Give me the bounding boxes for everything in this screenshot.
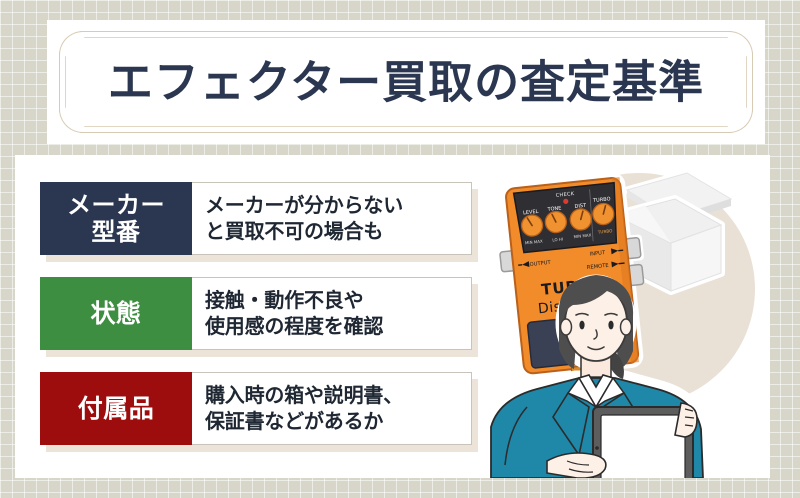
- criteria-description: 購入時の箱や説明書、 保証書などがあるか: [192, 373, 471, 444]
- illustration-group: CHECK LEVEL TONE DIST TURBO: [475, 155, 770, 478]
- badge-line: 付属品: [78, 395, 155, 423]
- criteria-row: 状態 接触・動作不良や 使用感の程度を確認: [40, 277, 472, 350]
- person-illustration: [475, 155, 770, 478]
- title-card: エフェクター買取の査定基準: [47, 20, 765, 144]
- criteria-row: メーカー 型番 メーカーが分からない と買取不可の場合も: [40, 182, 472, 255]
- description-line: と買取不可の場合も: [205, 219, 471, 245]
- criteria-list: メーカー 型番 メーカーが分からない と買取不可の場合も 状態: [40, 182, 472, 467]
- page-title: エフェクター買取の査定基準: [47, 60, 765, 105]
- criteria-badge: メーカー 型番: [40, 182, 192, 255]
- main-panel: メーカー 型番 メーカーが分からない と買取不可の場合も 状態: [15, 155, 770, 478]
- criteria-row-accessories: 付属品 購入時の箱や説明書、 保証書などがあるか: [40, 372, 472, 445]
- criteria-badge: 付属品: [40, 372, 192, 445]
- infographic-canvas: エフェクター買取の査定基準 メーカー 型番 メーカーが分からない と買: [0, 0, 800, 498]
- description-line: 購入時の箱や説明書、: [205, 383, 471, 409]
- description-line: 保証書などがあるか: [205, 409, 471, 435]
- badge-line: メーカー: [67, 192, 165, 219]
- description-line: 使用感の程度を確認: [205, 314, 471, 340]
- description-line: メーカーが分からない: [205, 193, 471, 219]
- description-line: 接触・動作不良や: [205, 288, 471, 314]
- badge-line: 状態: [90, 300, 141, 328]
- criteria-badge: 状態: [40, 277, 192, 350]
- criteria-row: 付属品 購入時の箱や説明書、 保証書などがあるか: [40, 372, 472, 445]
- criteria-row-maker-model: メーカー 型番 メーカーが分からない と買取不可の場合も: [40, 182, 472, 255]
- badge-line: 型番: [67, 219, 165, 246]
- criteria-description: 接触・動作不良や 使用感の程度を確認: [192, 278, 471, 349]
- criteria-row-condition: 状態 接触・動作不良や 使用感の程度を確認: [40, 277, 472, 350]
- criteria-description: メーカーが分からない と買取不可の場合も: [192, 183, 471, 254]
